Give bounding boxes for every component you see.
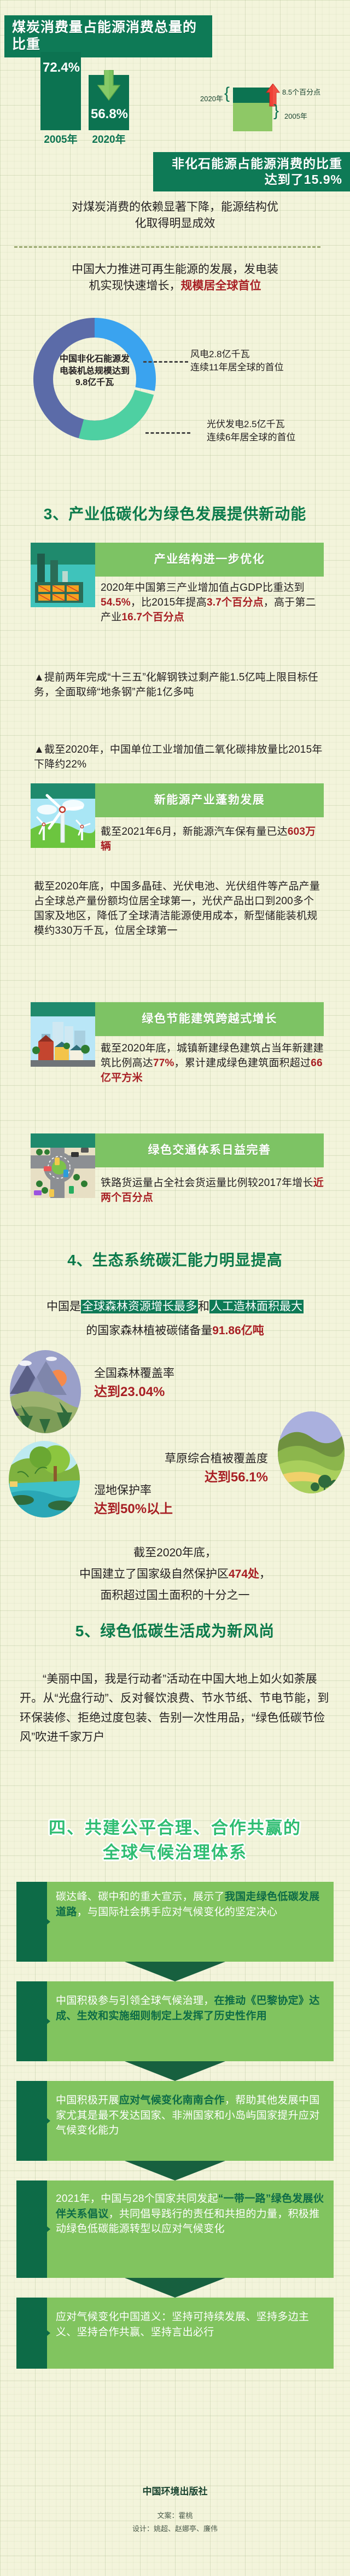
closing-line3: 面积超过国土面积的十分之一	[22, 1585, 328, 1607]
seg: 有量已达	[246, 826, 288, 838]
wind-turbine-icon	[31, 783, 95, 848]
footer-editor: 文案：霍桃	[0, 2510, 350, 2520]
bar-label-2005: 2005年	[39, 131, 82, 146]
closing-line1: 截至2020年底，	[22, 1543, 328, 1564]
closing-line2: 中国建立了国家级自然保护区474处，	[22, 1564, 328, 1585]
seg: ，与国际社会携手应对气候变化的坚定决心	[77, 1906, 278, 1918]
forest-stat-value: 达到23.04%	[94, 1381, 174, 1400]
leader-line-wind	[143, 361, 188, 363]
governance-card-2: 中国积极参与引领全球气候治理，在推动《巴黎协定》达成、生效和实施细则制定上发挥了…	[16, 1981, 334, 2061]
summary-line2: 化取得明显成效	[33, 216, 317, 232]
card-industry-body: 2020年中国第三产业增加值占GDP比重达到54.5%，比2015年提高3.7个…	[101, 577, 324, 641]
intro-highlight-1: 全球森林资源增长最多	[81, 1300, 198, 1313]
donut-center-line3: 9.8亿千瓦	[42, 377, 148, 389]
bar-label-2020: 2020年	[87, 131, 130, 146]
card-new-energy: 新能源产业蓬勃发展 截至2021年6月，新能源汽车保有量已达603万辆	[31, 783, 324, 877]
section-four-heading-line1: 四、共建公平合理、合作共赢的	[0, 1816, 350, 1841]
card-green-building-body: 截至2020年底，城镇新建绿色建筑占当年新建建筑比例高达77%，累计建成绿色建筑…	[101, 1036, 324, 1101]
seg: 截至2020年底，城镇新建绿色建	[101, 1043, 250, 1054]
wetland-stat: 湿地保护率 达到50%以上	[94, 1481, 173, 1517]
seg: 2021年，中国与28个国家共同发起	[56, 2193, 218, 2205]
seg: 较2017年增长	[248, 1177, 313, 1189]
footer-credits: 设计：姚超、赵娜亭、廉伟	[0, 2523, 350, 2533]
governance-card-3: 中国积极开展应对气候变化南南合作，帮助其他发展中国家尤其是最不发达国家、非洲国家…	[16, 2081, 334, 2161]
card-industry-bullet-2: ▲截至2020年，中国单位工业增加值二氧化碳排放量比2015年下降约22%	[34, 743, 324, 772]
forest-stat: 全国森林覆盖率 达到23.04%	[94, 1364, 174, 1400]
card-industry-structure: 产业结构进一步优化 2020年中国第三产业增加值占GDP比重达到54.5%，比2…	[31, 543, 324, 641]
card-connector-4	[125, 2278, 225, 2298]
card-text: 中国积极开展应对气候变化南南合作，帮助其他发展中国家尤其是最不发达国家、非洲国家…	[47, 2081, 334, 2161]
city-buildings-icon	[31, 1002, 95, 1067]
callout-wind-line1: 风电2.8亿千瓦	[190, 348, 284, 361]
governance-card-4: 2021年，中国与28个国家共同发起“一带一路”绿色发展伙伴关系倡议，共同倡导践…	[16, 2180, 334, 2278]
card-connector-3	[125, 2161, 225, 2180]
card-green-building: 绿色节能建筑跨越式增长 截至2020年底，城镇新建绿色建筑占当年新建建筑比例高达…	[31, 1002, 324, 1101]
card-new-energy-body: 截至2021年6月，新能源汽车保有量已达603万辆	[101, 817, 324, 877]
stack-segment-2005	[233, 103, 272, 131]
section5-heading: 5、绿色低碳生活成为新风尚	[0, 1619, 350, 1641]
leader-line-solar	[145, 432, 190, 434]
nonfossil-stacked-chart: 8.5个百分点 { 2020年 } 2005年	[191, 75, 350, 138]
seg: ，比2015年	[131, 597, 186, 608]
card-notch-icon	[40, 2013, 50, 2030]
bar-2020-value: 56.8%	[90, 107, 129, 122]
card-text: 碳达峰、碳中和的重大宣示，展示了我国走绿色低碳发展道路，与国际社会携手应对气候变…	[47, 1882, 334, 1962]
card-connector-1	[125, 1962, 225, 1981]
seg: ，累计建成绿色建筑面积超过	[174, 1057, 311, 1069]
donut-center-line2: 电装机总规模达到	[42, 365, 148, 377]
governance-card-1: 碳达峰、碳中和的重大宣示，展示了我国走绿色低碳发展道路，与国际社会携手应对气候变…	[16, 1882, 334, 1962]
seg-highlight: 54.5%	[101, 597, 131, 608]
footer-org: 中国环境出版社	[0, 2484, 350, 2497]
intro-line2-plain: 的国家森林植被碳储备量	[86, 1324, 212, 1337]
section3-heading: 3、产业低碳化为绿色发展提供新动能	[0, 502, 350, 524]
card-green-transport-body: 铁路货运量占全社会货运量比例较2017年增长近两个百分点	[101, 1167, 324, 1223]
seg: 中国积极参与引领全球气候治理，	[56, 1995, 214, 2007]
renewable-lead: 中国大力推进可再生能源的发展，发电装 机实现快速增长，规模居全球首位	[27, 261, 323, 295]
card-industry-bullet-1: ▲提前两年完成“十三五”化解钢铁过剩产能1.5亿吨上限目标任务，全面取缔“地条钢…	[34, 671, 324, 700]
card-text: 应对气候变化中国道义：坚持可持续发展、坚持多边主义、坚持合作共赢、坚持言出必行	[47, 2298, 334, 2369]
governance-card-5: 应对气候变化中国道义：坚持可持续发展、坚持多边主义、坚持合作共赢、坚持言出必行	[16, 2298, 334, 2369]
arrow-down-icon	[97, 70, 120, 101]
label-2020: 2020年	[200, 93, 223, 103]
card-connector-2	[125, 2061, 225, 2081]
card-text: 2021年，中国与28个国家共同发起“一带一路”绿色发展伙伴关系倡议，共同倡导践…	[47, 2180, 334, 2278]
bar-2005-value: 72.4%	[42, 60, 81, 75]
seg-highlight: 3.7个百分点	[207, 597, 264, 608]
intro-mid: 和	[198, 1300, 209, 1313]
grassland-icon	[278, 1411, 345, 1493]
closing-line2-plain-b: ，	[259, 1568, 271, 1580]
donut-center-line1: 中国非化石能源发	[42, 353, 148, 365]
donut-center-label: 中国非化石能源发 电装机总规模达到 9.8亿千瓦	[42, 353, 148, 389]
card-notch-icon	[40, 2113, 50, 2129]
card-green-transport: 绿色交通体系日益完善 铁路货运量占全社会货运量比例较2017年增长近两个百分点	[31, 1133, 324, 1223]
intro-pre: 中国是	[46, 1300, 81, 1313]
grassland-stat-label: 草原综合植被覆盖度	[126, 1450, 268, 1466]
brace-right: }	[273, 102, 279, 120]
seg: 2020年中国第三产业增加值占	[101, 582, 240, 594]
card-green-transport-title: 绿色交通体系日益完善	[95, 1133, 324, 1167]
section4-heading: 4、生态系统碳汇能力明显提高	[0, 1248, 350, 1270]
section-four-heading-line2: 全球气候治理体系	[0, 1841, 350, 1865]
card-green-building-title: 绿色节能建筑跨越式增长	[95, 1002, 324, 1036]
section4-closing: 截至2020年底， 中国建立了国家级自然保护区474处， 面积超过国土面积的十分…	[22, 1543, 328, 1607]
card-notch-icon	[40, 2325, 50, 2341]
callout-solar-line2: 连续6年居全球的首位	[207, 431, 295, 444]
seg-highlight: 16.7个百分点	[121, 612, 184, 623]
callout-wind-line2: 连续11年居全球的首位	[190, 361, 284, 374]
card-industry-title: 产业结构进一步优化	[95, 543, 324, 577]
callout-wind: 风电2.8亿千瓦 连续11年居全球的首位	[190, 348, 284, 374]
seg: 提高	[186, 597, 207, 608]
label-2005: 2005年	[284, 111, 307, 121]
nonfossil-chart-title: 非化石能源占能源消费的比重 达到了15.9%	[153, 152, 350, 191]
card-notch-icon	[40, 2221, 50, 2237]
callout-solar: 光伏发电2.5亿千瓦 连续6年居全球的首位	[207, 418, 295, 444]
wetland-stat-label: 湿地保护率	[94, 1481, 173, 1498]
seg-highlight: 77%	[153, 1057, 174, 1069]
seg: 碳达峰、碳中和的重大宣示，展示了	[56, 1891, 225, 1903]
wetland-stat-value: 达到50%以上	[94, 1498, 173, 1517]
renewable-lead-highlight: 规模居全球首位	[181, 280, 261, 292]
brace-left: {	[224, 84, 230, 103]
factory-icon	[31, 543, 95, 607]
mountain-forest-icon	[10, 1350, 81, 1433]
nonfossil-title-line2: 达到了15.9%	[161, 172, 342, 188]
renewable-lead-line2: 机实现快速增长，规模居全球首位	[27, 278, 323, 294]
roundabout-traffic-icon	[31, 1133, 95, 1198]
intro-highlight-2: 人工造林面积最大	[209, 1300, 304, 1313]
renewable-lead-line1: 中国大力推进可再生能源的发展，发电装	[27, 261, 323, 278]
nonfossil-title-line1: 非化石能源占能源消费的比重	[161, 156, 342, 172]
seg: 截至2021年6月，新能源汽车保	[101, 826, 246, 838]
wetland-icon	[9, 1441, 80, 1517]
divider-dashed	[14, 246, 320, 248]
intro-line2-red: 91.86亿吨	[212, 1324, 264, 1337]
section-four-heading: 四、共建公平合理、合作共赢的 全球气候治理体系	[0, 1816, 350, 1865]
coal-bar-chart: 72.4% 56.8% 2005年 2020年	[22, 49, 142, 142]
closing-line2-red: 474处	[229, 1568, 259, 1580]
seg: GDP比重达到	[240, 582, 305, 594]
closing-line2-plain-a: 中国建立了国家级自然保护区	[79, 1568, 229, 1580]
nonfossil-capacity-donut: 中国非化石能源发 电装机总规模达到 9.8亿千瓦	[26, 311, 163, 447]
seg: 中国积极开展	[56, 2095, 119, 2106]
card-notch-icon	[40, 1914, 50, 1930]
card-text: 中国积极参与引领全球气候治理，在推动《巴黎协定》达成、生效和实施细则制定上发挥了…	[47, 1981, 334, 2061]
seg: 应对气候变化中国道义：坚持可持续发展、坚持多边主义、坚持合作共赢、坚持言出必行	[56, 2311, 309, 2338]
forest-stat-label: 全国森林覆盖率	[94, 1364, 174, 1381]
seg-emph: 应对气候变化南南合作	[119, 2095, 225, 2106]
section4-intro: 中国是全球森林资源增长最多和人工造林面积最大 的国家森林植被碳储备量91.86亿…	[12, 1296, 338, 1341]
delta-label: 8.5个百分点	[282, 86, 320, 97]
energy-summary: 对煤炭消费的依赖显著下降，能源结构优 化取得明显成效	[33, 199, 317, 232]
card-new-energy-bullet-1: 截至2020年底，中国多晶硅、光伏电池、光伏组件等产品产量占全球总产量份额均位居…	[34, 880, 324, 939]
seg: 铁路货运量占全社会货运量比例	[101, 1177, 248, 1189]
card-new-energy-title: 新能源产业蓬勃发展	[95, 783, 324, 817]
callout-solar-line1: 光伏发电2.5亿千瓦	[207, 418, 295, 431]
summary-line1: 对煤炭消费的依赖显著下降，能源结构优	[33, 199, 317, 216]
grassland-stat: 草原综合植被覆盖度 达到56.1%	[126, 1450, 268, 1485]
renewable-lead-plain: 机实现快速增长，	[89, 280, 181, 292]
section5-paragraph: “美丽中国，我是行动者”活动在中国大地上如火如荼展开。从“光盘行动”、反对餐饮浪…	[20, 1670, 332, 1747]
